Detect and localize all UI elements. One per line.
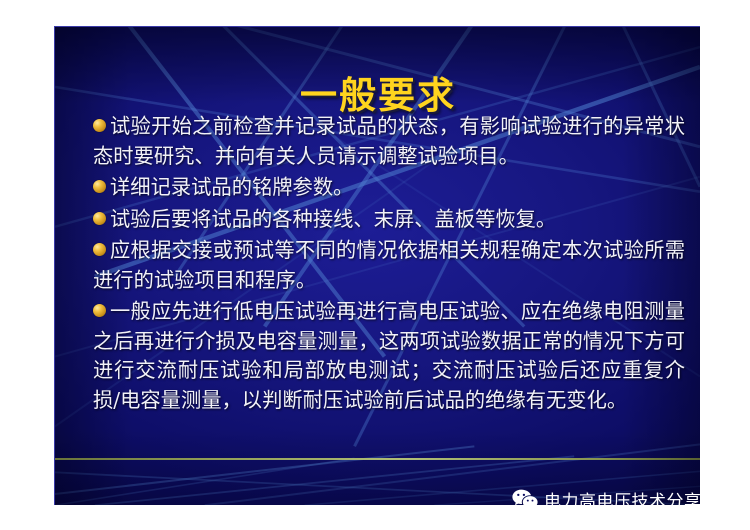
bullet-marker-icon: [93, 212, 106, 225]
watermark: 电力高电压技术分享: [512, 487, 702, 512]
watermark-text: 电力高电压技术分享: [544, 487, 702, 512]
presentation-slide: 一般要求 试验开始之前检查并记录试品的状态，有影响试验进行的异常状态时要研究、并…: [54, 26, 700, 505]
bullet-marker-icon: [93, 180, 106, 193]
bullet-item: 详细记录试品的铭牌参数。: [93, 173, 685, 203]
wechat-icon: [512, 489, 538, 511]
bullet-item: 应根据交接或预试等不同的情况依据相关规程确定本次试验所需进行的试验项目和程序。: [93, 236, 685, 295]
bullet-marker-icon: [93, 243, 106, 256]
bullet-item: 试验开始之前检查并记录试品的状态，有影响试验进行的异常状态时要研究、并向有关人员…: [93, 112, 685, 171]
bullet-text: 应根据交接或预试等不同的情况依据相关规程确定本次试验所需进行的试验项目和程序。: [93, 238, 685, 292]
bullet-text: 试验开始之前检查并记录试品的状态，有影响试验进行的异常状态时要研究、并向有关人员…: [93, 114, 685, 168]
slide-body: 试验开始之前检查并记录试品的状态，有影响试验进行的异常状态时要研究、并向有关人员…: [93, 112, 685, 417]
bullet-marker-icon: [93, 119, 106, 132]
bullet-text: 一般应先进行低电压试验再进行高电压试验、应在绝缘电阻测量之后再进行介损及电容量测…: [93, 299, 685, 412]
slide-title: 一般要求: [55, 65, 700, 119]
bullet-text: 试验后要将试品的各种接线、末屏、盖板等恢复。: [110, 207, 556, 231]
bullet-item: 一般应先进行低电压试验再进行高电压试验、应在绝缘电阻测量之后再进行介损及电容量测…: [93, 297, 685, 415]
footer-divider: [55, 458, 700, 460]
bullet-text: 详细记录试品的铭牌参数。: [110, 175, 353, 199]
bullet-marker-icon: [93, 304, 106, 317]
bullet-item: 试验后要将试品的各种接线、末屏、盖板等恢复。: [93, 205, 685, 235]
